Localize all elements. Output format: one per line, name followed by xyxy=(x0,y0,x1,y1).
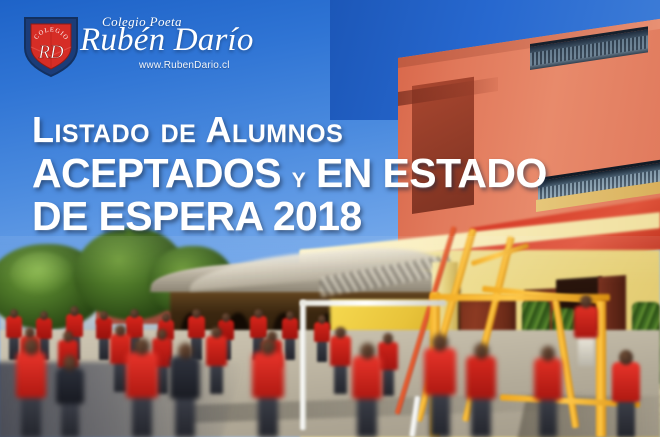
school-banner: COLEGIO RD Colegio Poeta Rubén Darío www… xyxy=(0,0,660,437)
student-foreground xyxy=(352,356,382,437)
student xyxy=(282,318,298,360)
shield-crest-icon: COLEGIO RD xyxy=(22,14,80,78)
headline-block: Listado de Alumnos ACEPTADOS y EN ESTADO… xyxy=(32,112,632,237)
school-logo[interactable]: COLEGIO RD Colegio Poeta Rubén Darío www… xyxy=(18,10,248,80)
svg-text:RD: RD xyxy=(37,42,64,63)
student-foreground xyxy=(534,358,562,437)
student-on-steps xyxy=(574,306,598,366)
headline-line-2: ACEPTADOS y EN ESTADO xyxy=(32,153,632,194)
student xyxy=(206,336,227,394)
headline-accepted-label: ACEPTADOS xyxy=(32,150,281,196)
logo-school-name: Rubén Darío xyxy=(80,24,254,57)
headline-line-3: DE ESPERA 2018 xyxy=(32,196,632,237)
headline-line-1: Listado de Alumnos xyxy=(32,112,632,148)
headline-waiting-label: EN ESTADO xyxy=(316,150,547,196)
logo-website-url[interactable]: www.RubenDario.cl xyxy=(139,60,230,71)
student xyxy=(314,322,330,362)
student xyxy=(330,336,351,394)
student-foreground xyxy=(612,362,640,437)
student-foreground xyxy=(424,348,456,437)
headline-conjunction: y xyxy=(292,161,305,194)
logo-wordmark: Colegio Poeta Rubén Darío www.RubenDario… xyxy=(84,10,254,80)
student-foreground xyxy=(16,352,46,437)
student-foreground xyxy=(466,356,496,437)
student-foreground xyxy=(252,352,284,437)
student-foreground xyxy=(126,352,158,437)
student-foreground xyxy=(170,356,200,437)
student-foreground xyxy=(56,368,84,437)
